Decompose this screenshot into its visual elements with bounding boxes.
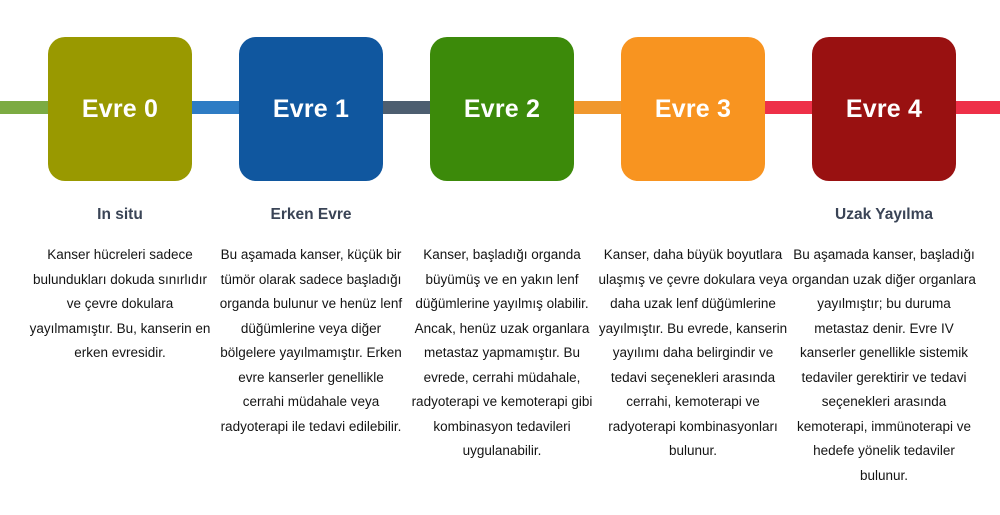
stage-box-evre-1[interactable]: Evre 1 [239, 37, 383, 181]
stage-box-evre-2[interactable]: Evre 2 [430, 37, 574, 181]
stage-box-label-evre-4: Evre 4 [846, 97, 922, 122]
stage-caption-evre-3: Kanser, daha büyük boyutlara ulaşmış ve … [598, 205, 788, 464]
stage-heading-evre-0: In situ [25, 205, 215, 225]
stage-caption-row: In situ Kanser hücreleri sadece bulunduk… [0, 205, 1000, 515]
stage-body-evre-1: Bu aşamada kanser, küçük bir tümör olara… [216, 243, 406, 439]
stage-box-label-evre-3: Evre 3 [655, 97, 731, 122]
stage-box-row: Evre 0 Evre 1 Evre 2 Evre 3 Evre 4 [0, 37, 1000, 181]
stage-body-evre-4: Bu aşamada kanser, başladığı organdan uz… [789, 243, 979, 488]
stage-box-label-evre-1: Evre 1 [273, 97, 349, 122]
stage-caption-evre-2: Kanser, başladığı organda büyümüş ve en … [407, 205, 597, 464]
stage-body-evre-2: Kanser, başladığı organda büyümüş ve en … [407, 243, 597, 464]
cancer-stages-infographic: Evre 0 Evre 1 Evre 2 Evre 3 Evre 4 In si… [0, 0, 1000, 515]
stage-body-evre-0: Kanser hücreleri sadece bulundukları dok… [25, 243, 215, 366]
stage-caption-evre-4: Uzak Yayılma Bu aşamada kanser, başladığ… [789, 205, 979, 488]
stage-heading-evre-1: Erken Evre [216, 205, 406, 225]
stage-box-evre-4[interactable]: Evre 4 [812, 37, 956, 181]
stage-box-evre-3[interactable]: Evre 3 [621, 37, 765, 181]
stage-box-evre-0[interactable]: Evre 0 [48, 37, 192, 181]
stage-body-evre-3: Kanser, daha büyük boyutlara ulaşmış ve … [598, 243, 788, 464]
stage-caption-evre-0: In situ Kanser hücreleri sadece bulunduk… [25, 205, 215, 366]
stage-caption-evre-1: Erken Evre Bu aşamada kanser, küçük bir … [216, 205, 406, 439]
stage-heading-evre-4: Uzak Yayılma [789, 205, 979, 225]
stage-box-label-evre-2: Evre 2 [464, 97, 540, 122]
stage-box-label-evre-0: Evre 0 [82, 97, 158, 122]
